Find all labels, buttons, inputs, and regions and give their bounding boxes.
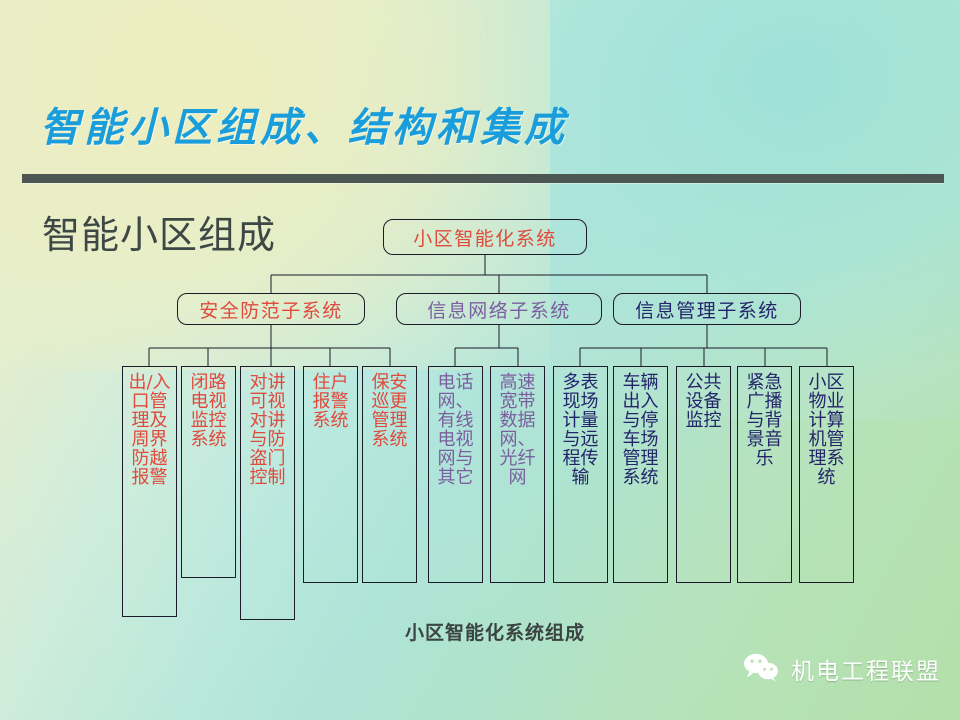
tree-node-branch-network[interactable]: 信息网络子系统 [396, 293, 602, 325]
slide-canvas: 智能小区组成、结构和集成 智能小区组成 [0, 0, 960, 720]
watermark-text: 机电工程联盟 [791, 652, 941, 686]
tree-node-branch-management[interactable]: 信息管理子系统 [613, 293, 801, 325]
tree-leaf-telephone-catv-network[interactable]: 电话网、有线电视网与其它 [428, 366, 483, 583]
figure-caption: 小区智能化系统组成 [405, 618, 585, 645]
tree-leaf-property-computer-management[interactable]: 小区物业计算机管理系统 [799, 366, 854, 583]
org-tree-diagram: 小区智能化系统 安全防范子系统 信息网络子系统 信息管理子系统 出/入口管理及周… [0, 0, 960, 720]
tree-leaf-household-alarm-system[interactable]: 住户报警系统 [303, 366, 358, 583]
tree-leaf-emergency-broadcast-background-music[interactable]: 紧急广播与背景音乐 [737, 366, 792, 583]
tree-node-root[interactable]: 小区智能化系统 [383, 219, 587, 255]
tree-leaf-broadband-fiber-network[interactable]: 高速宽带数据网、光纤网 [490, 366, 545, 583]
tree-leaf-meter-metering-remote-transmission[interactable]: 多表现场计量与远程传输 [553, 366, 608, 583]
tree-leaf-public-equipment-monitoring[interactable]: 公共设备监控 [676, 366, 731, 583]
tree-leaf-vehicle-parking-management[interactable]: 车辆出入与停车场管理系统 [613, 366, 668, 583]
tree-leaf-guard-patrol-system[interactable]: 保安巡更管理系统 [362, 366, 417, 583]
watermark: 机电工程联盟 [742, 652, 941, 686]
tree-leaf-entrance-perimeter-alarm[interactable]: 出/入口管理及周界防越报警 [122, 366, 177, 617]
tree-leaf-cctv-system[interactable]: 闭路电视监控系统 [181, 366, 236, 578]
tree-leaf-video-intercom-door-control[interactable]: 对讲可视对讲与防盗门控制 [240, 366, 295, 620]
wechat-icon [742, 652, 782, 686]
tree-node-branch-security[interactable]: 安全防范子系统 [177, 293, 365, 325]
